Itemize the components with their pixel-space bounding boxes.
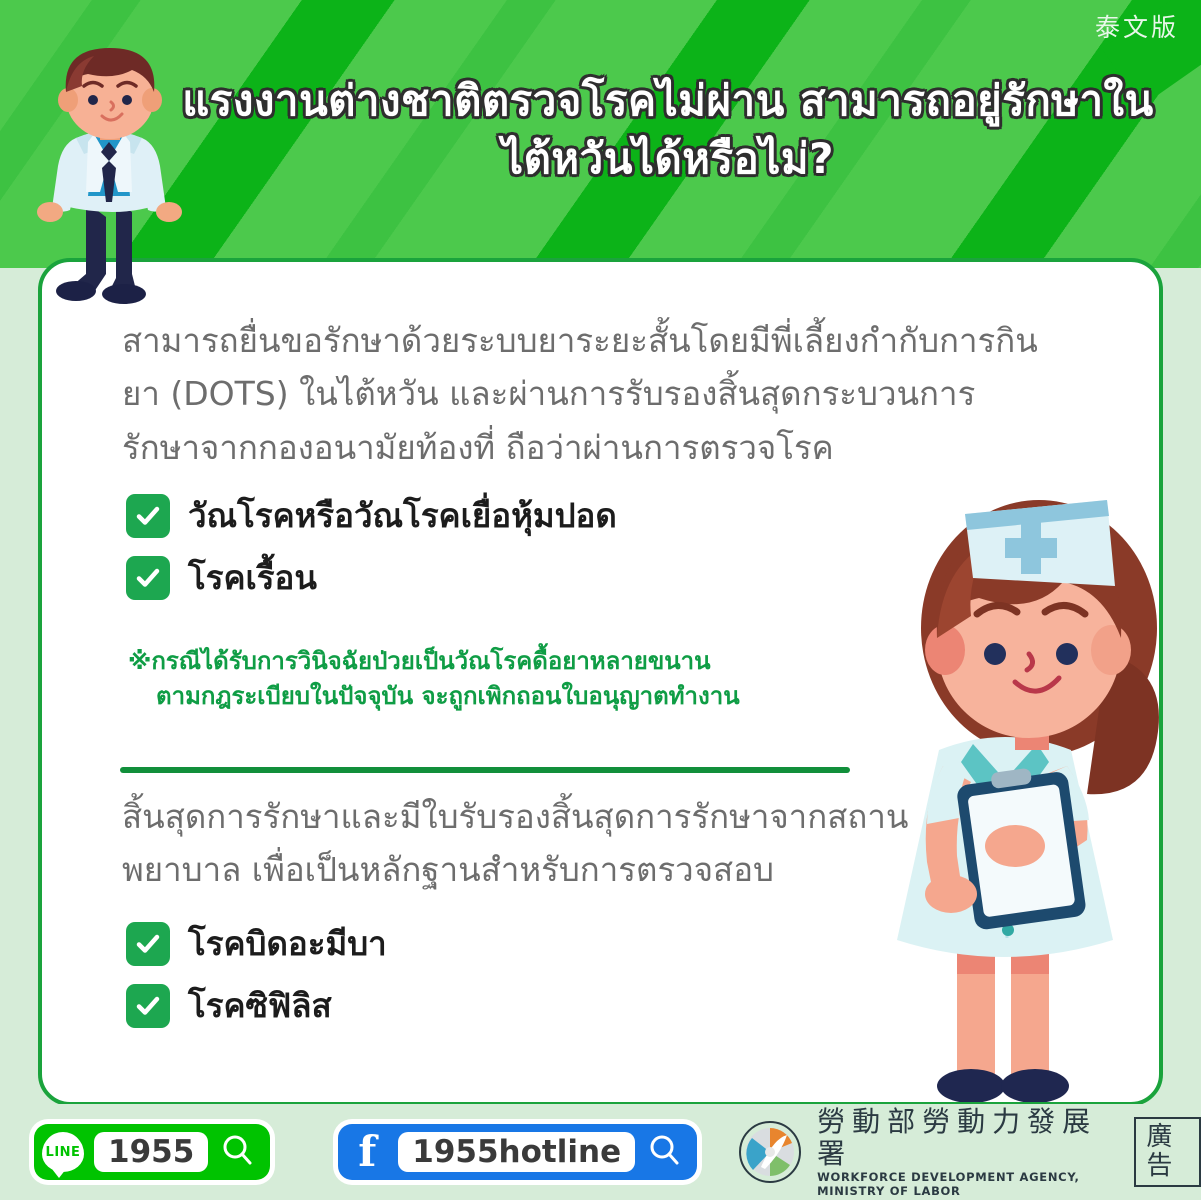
agency-name-en: WORKFORCE DEVELOPMENT AGENCY, MINISTRY O…: [817, 1170, 1118, 1198]
section2-paragraph: สิ้นสุดการรักษาและมีใบรับรองสิ้นสุดการรั…: [122, 790, 1002, 897]
list-item[interactable]: โรคบิดอะมีบา: [126, 922, 387, 966]
section1-paragraph: สามารถยื่นขอรักษาด้วยระบบยาระยะสั้นโดยมี…: [122, 314, 1052, 474]
list-item-label: โรคบิดอะมีบา: [188, 926, 387, 962]
note-line-1: ※กรณีได้รับการวินิจฉัยป่วยเป็นวัณโรคดื้อ…: [128, 644, 928, 679]
line-id-value: 1955: [94, 1132, 208, 1172]
title-line-1: แรงงานต่างชาติตรวจโรคไม่ผ่าน สามารถอยู่ร…: [168, 72, 1168, 130]
language-tag: 泰文版: [1095, 8, 1179, 44]
line-contact-badge[interactable]: LINE 1955: [34, 1124, 270, 1180]
search-icon[interactable]: [647, 1133, 681, 1171]
checkmark-icon: [126, 556, 170, 600]
note-text-2: ตามกฎระเบียบในปัจจุบัน จะถูกเพิกถอนใบอนุ…: [128, 679, 928, 714]
checkmark-icon: [126, 494, 170, 538]
search-icon[interactable]: [220, 1133, 254, 1171]
title-line-2: ไต้หวันได้หรือไม่?: [168, 130, 1168, 188]
section-divider: [120, 767, 850, 773]
facebook-contact-badge[interactable]: f 1955hotline: [338, 1124, 697, 1180]
agency-name-zh: 勞動部勞動力發展署: [817, 1106, 1118, 1170]
section2-check-list: โรคบิดอะมีบา โรคซิฟิลิส: [126, 922, 387, 1046]
list-item-label: โรคเรื้อน: [188, 560, 317, 596]
footer-bar: LINE 1955 f 1955hotline: [0, 1104, 1201, 1200]
section1-check-list: วัณโรคหรือวัณโรคเยื่อหุ้มปอด โรคเรื้อน: [126, 494, 617, 618]
asterisk-reference-icon: ※: [128, 647, 151, 675]
page-title: แรงงานต่างชาติตรวจโรคไม่ผ่าน สามารถอยู่ร…: [168, 72, 1168, 188]
agency-branding: 勞動部勞動力發展署 WORKFORCE DEVELOPMENT AGENCY, …: [739, 1106, 1201, 1198]
facebook-icon: f: [346, 1131, 388, 1173]
infographic-page: 泰文版 แรงงานต่างชาติตรวจโรคไม่ผ่าน สามารถอ…: [0, 0, 1201, 1200]
note-text-1: กรณีได้รับการวินิจฉัยป่วยเป็นวัณโรคดื้อย…: [151, 647, 710, 675]
facebook-page-value: 1955hotline: [398, 1132, 635, 1172]
list-item[interactable]: วัณโรคหรือวัณโรคเยื่อหุ้มปอด: [126, 494, 617, 538]
list-item-label: โรคซิฟิลิส: [188, 988, 332, 1024]
content-card: สามารถยื่นขอรักษาด้วยระบบยาระยะสั้นโดยมี…: [38, 258, 1163, 1106]
list-item[interactable]: โรคเรื้อน: [126, 556, 617, 600]
checkmark-icon: [126, 984, 170, 1028]
checkmark-icon: [126, 922, 170, 966]
advertisement-label: 廣告: [1134, 1117, 1201, 1186]
section1-note: ※กรณีได้รับการวินิจฉัยป่วยเป็นวัณโรคดื้อ…: [128, 644, 928, 714]
line-icon: LINE: [42, 1132, 84, 1172]
list-item[interactable]: โรคซิฟิลิส: [126, 984, 387, 1028]
doctor-illustration: [24, 42, 199, 312]
list-item-label: วัณโรคหรือวัณโรคเยื่อหุ้มปอด: [188, 498, 617, 534]
agency-logo-icon: [739, 1121, 801, 1183]
